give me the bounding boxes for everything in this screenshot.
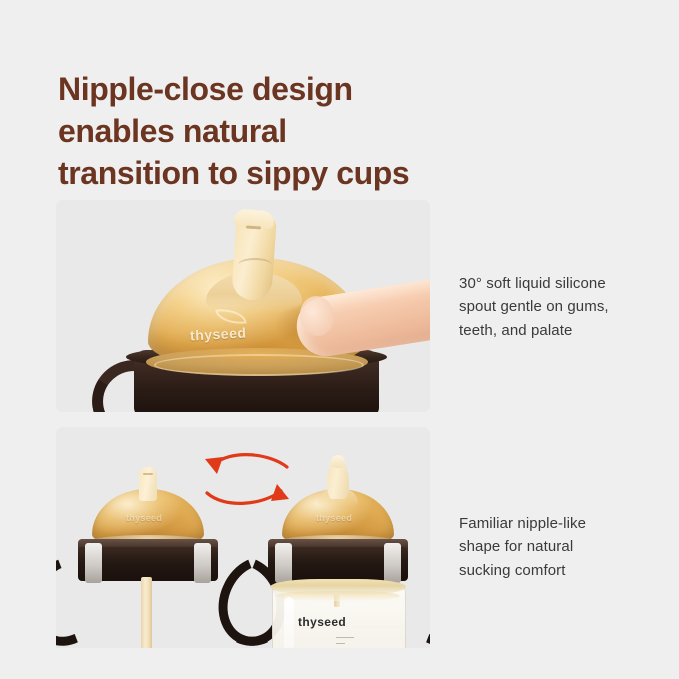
bottle-neck-ring-inner — [276, 591, 400, 601]
collar-tab-right — [194, 543, 211, 583]
page-headline: Nipple-close design enables natural tran… — [58, 69, 538, 194]
product-feature-page: Nipple-close design enables natural tran… — [0, 0, 679, 679]
dome-brand-emboss: thyseed — [316, 513, 352, 523]
bottle-brand-label: thyseed — [298, 615, 430, 629]
feature-image-panel-soft-spout: thyseed — [56, 200, 430, 412]
feature-caption-soft-spout: 30° soft liquid silicone spout gentle on… — [459, 272, 655, 342]
spout-slit-icon — [143, 473, 153, 475]
dome-brand-emboss: thyseed — [190, 325, 247, 344]
caption-line-1: Familiar nipple-like — [459, 512, 655, 535]
caption-line-2: shape for natural — [459, 535, 655, 558]
nipple-teat-tip — [331, 455, 345, 468]
feature-image-panel-nipple-shape: thyseed — [56, 427, 430, 648]
bottle-highlight — [284, 597, 294, 648]
collar-tab-right — [384, 543, 401, 583]
caption-line-3: teeth, and palate — [459, 319, 655, 342]
dome-brand-emboss: thyseed — [126, 513, 162, 523]
caption-line-2: spout gentle on gums, — [459, 295, 655, 318]
collar-tab-left — [275, 543, 292, 583]
feature-caption-nipple-shape: Familiar nipple-like shape for natural s… — [459, 512, 655, 582]
headline-line-3: transition to sippy cups — [58, 153, 538, 195]
bottle-comparison-illustration: thyseed — [56, 427, 430, 648]
spout-fold-crease — [238, 258, 272, 272]
drinking-straw — [141, 577, 152, 648]
collar-tab-left — [85, 543, 102, 583]
bottle-unit-nipple-teat: thyseed thyseed — [268, 473, 408, 648]
caption-line-1: 30° soft liquid silicone — [459, 272, 655, 295]
sippy-spout-illustration: thyseed — [56, 200, 430, 412]
volume-graduations — [336, 637, 370, 648]
headline-line-2: enables natural — [58, 111, 538, 153]
silicone-dome-ring — [154, 354, 364, 376]
headline-line-1: Nipple-close design — [58, 69, 538, 111]
caption-line-3: sucking comfort — [459, 559, 655, 582]
